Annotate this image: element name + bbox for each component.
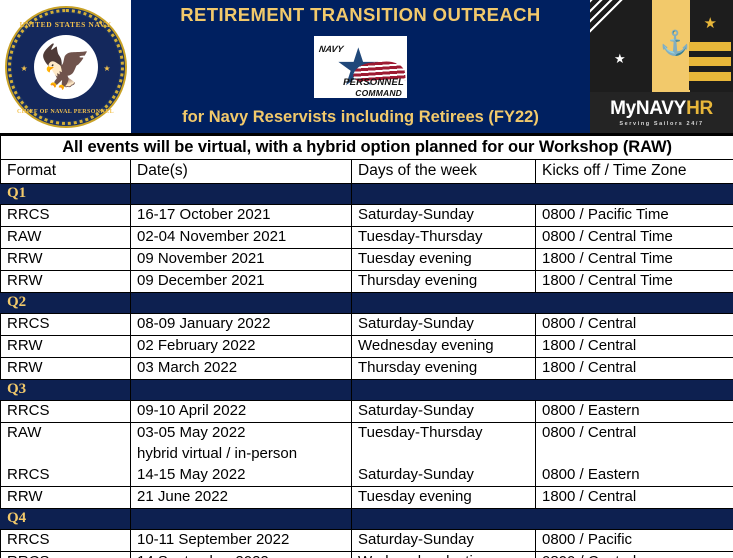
- kicks-off-cell: 0800 / Central: [536, 552, 733, 558]
- header-banner: UNITED STATES NAVY CHIEF OF NAVAL PERSON…: [0, 0, 733, 133]
- seal-bottom-text: CHIEF OF NAVAL PERSONNEL: [12, 109, 120, 115]
- table-row: RAW02-04 November 2021Tuesday-Thursday08…: [1, 227, 733, 249]
- quarter-fill-dates: [131, 293, 352, 314]
- quarter-fill-days: [352, 293, 536, 314]
- chief-of-naval-personnel-seal-icon: UNITED STATES NAVY CHIEF OF NAVAL PERSON…: [7, 8, 125, 126]
- quarter-fill-kicks: [536, 380, 733, 401]
- seal-center: 🦅: [34, 35, 98, 99]
- format-cell: RRCS: [1, 205, 131, 227]
- quarter-fill-dates: [131, 509, 352, 530]
- quarter-fill-kicks: [536, 184, 733, 205]
- page-subtitle: for Navy Reservists including Retirees (…: [182, 108, 539, 127]
- seal-top-text: UNITED STATES NAVY: [12, 20, 120, 29]
- dates-cell: 16-17 October 2021: [131, 205, 352, 227]
- eagle-icon: 🦅: [39, 46, 91, 88]
- column-header-0: Format: [1, 160, 131, 184]
- quarter-row-q2: Q2: [1, 293, 733, 314]
- quarter-row-q1: Q1: [1, 184, 733, 205]
- quarter-fill-days: [352, 184, 536, 205]
- chevron-stripes-icon: [590, 0, 652, 92]
- mynavy-hr-tagline: Serving Sailors 24/7: [619, 121, 703, 127]
- days-line: Saturday-Sunday: [358, 465, 535, 486]
- kicks-off-line: 0800 / Eastern: [542, 465, 733, 486]
- quarter-label: Q3: [1, 380, 131, 401]
- table-row: RRW09 December 2021Thursday evening1800 …: [1, 271, 733, 293]
- dates-cell: 10-11 September 2022: [131, 530, 352, 552]
- dates-cell: 09 December 2021: [131, 271, 352, 293]
- schedule-table-container: All events will be virtual, with a hybri…: [0, 133, 733, 558]
- kicks-off-cell: 0800 / Central 0800 / Eastern: [536, 423, 733, 487]
- kicks-off-line: 0800 / Central: [542, 423, 733, 444]
- quarter-label: Q4: [1, 509, 131, 530]
- quarter-fill-days: [352, 509, 536, 530]
- days-cell: Wednesday daytime: [352, 552, 536, 558]
- kicks-off-cell: 1800 / Central: [536, 336, 733, 358]
- column-header-1: Date(s): [131, 160, 352, 184]
- days-cell: Tuesday-Thursday Saturday-Sunday: [352, 423, 536, 487]
- format-line: RAW: [7, 423, 130, 444]
- quarter-fill-kicks: [536, 293, 733, 314]
- dates-cell: 02 February 2022: [131, 336, 352, 358]
- officer-stripes-icon: [689, 42, 731, 90]
- table-row-merged: RAW RRCS03-05 May 2022hybrid virtual / i…: [1, 423, 733, 487]
- kicks-off-cell: 1800 / Central: [536, 487, 733, 509]
- format-cell: RRW: [1, 487, 131, 509]
- days-cell: Wednesday evening: [352, 336, 536, 358]
- days-cell: Tuesday evening: [352, 249, 536, 271]
- navy-personnel-command-logo: NAVY PERSONNEL COMMAND: [314, 36, 407, 98]
- mynavy-hr-logo: MyNAVYHR Serving Sailors 24/7: [590, 92, 733, 133]
- dates-line: 03-05 May 2022: [137, 423, 351, 444]
- days-cell: Tuesday-Thursday: [352, 227, 536, 249]
- table-row: RRW02 February 2022Wednesday evening1800…: [1, 336, 733, 358]
- table-row: RRCS09-10 April 2022Saturday-Sunday0800 …: [1, 401, 733, 423]
- format-cell: RRW: [1, 249, 131, 271]
- kicks-off-cell: 0800 / Eastern: [536, 401, 733, 423]
- table-row: RRCS08-09 January 2022Saturday-Sunday080…: [1, 314, 733, 336]
- table-row: RRCS16-17 October 2021Saturday-Sunday080…: [1, 205, 733, 227]
- days-cell: Thursday evening: [352, 358, 536, 380]
- format-cell: RRCS: [1, 401, 131, 423]
- dates-cell: 14 September 2022: [131, 552, 352, 558]
- kicks-off-cell: 0800 / Central: [536, 314, 733, 336]
- dates-line: hybrid virtual / in-person: [137, 444, 351, 465]
- column-header-3: Kicks off / Time Zone: [536, 160, 733, 184]
- column-header-2: Days of the week: [352, 160, 536, 184]
- gold-star-icon: ★: [704, 16, 717, 31]
- table-row: RRCS14 September 2022Wednesday daytime08…: [1, 552, 733, 558]
- quarter-fill-dates: [131, 184, 352, 205]
- seal-star-left-icon: ★: [21, 65, 28, 73]
- quarter-label: Q1: [1, 184, 131, 205]
- table-header-row: FormatDate(s)Days of the weekKicks off /…: [1, 160, 733, 184]
- days-cell: Saturday-Sunday: [352, 314, 536, 336]
- table-row: RRW09 November 2021Tuesday evening1800 /…: [1, 249, 733, 271]
- dates-cell: 02-04 November 2021: [131, 227, 352, 249]
- kicks-off-cell: 0800 / Pacific Time: [536, 205, 733, 227]
- hr-text: HR: [686, 98, 713, 119]
- anchor-icon: ⚓: [660, 32, 690, 56]
- kicks-off-cell: 1800 / Central: [536, 358, 733, 380]
- rank-insignia-graphic: ★ ⚓ ★: [590, 0, 733, 92]
- kicks-off-cell: 0800 / Central Time: [536, 227, 733, 249]
- dates-cell: 03-05 May 2022hybrid virtual / in-person…: [131, 423, 352, 487]
- table-row: RRW21 June 2022Tuesday evening1800 / Cen…: [1, 487, 733, 509]
- npc-logo-line1: NAVY: [318, 44, 344, 54]
- format-cell: RRW: [1, 271, 131, 293]
- quarter-fill-dates: [131, 380, 352, 401]
- seal-star-right-icon: ★: [103, 65, 110, 73]
- format-cell: RAW RRCS: [1, 423, 131, 487]
- format-cell: RRCS: [1, 552, 131, 558]
- format-cell: RRCS: [1, 530, 131, 552]
- days-cell: Thursday evening: [352, 271, 536, 293]
- page-title: RETIREMENT TRANSITION OUTREACH: [180, 4, 540, 26]
- table-row: RRW03 March 2022Thursday evening1800 / C…: [1, 358, 733, 380]
- quarter-row-q4: Q4: [1, 509, 733, 530]
- dates-cell: 09-10 April 2022: [131, 401, 352, 423]
- navy-seal-container: UNITED STATES NAVY CHIEF OF NAVAL PERSON…: [0, 0, 131, 133]
- table-banner-text: All events will be virtual, with a hybri…: [1, 136, 733, 160]
- quarter-row-q3: Q3: [1, 380, 733, 401]
- format-cell: RRW: [1, 358, 131, 380]
- format-cell: RRW: [1, 336, 131, 358]
- title-column: RETIREMENT TRANSITION OUTREACH NAVY PERS…: [131, 0, 590, 133]
- mynavy-text: MyNAVY: [610, 98, 686, 119]
- days-cell: Saturday-Sunday: [352, 530, 536, 552]
- npc-logo-line3: COMMAND: [355, 88, 402, 98]
- format-cell: RRCS: [1, 314, 131, 336]
- quarter-fill-kicks: [536, 509, 733, 530]
- kicks-off-cell: 1800 / Central Time: [536, 271, 733, 293]
- quarter-fill-days: [352, 380, 536, 401]
- quarter-label: Q2: [1, 293, 131, 314]
- days-cell: Saturday-Sunday: [352, 401, 536, 423]
- days-line: Tuesday-Thursday: [358, 423, 535, 444]
- format-line: RRCS: [7, 465, 130, 486]
- right-logo-column: ★ ⚓ ★ MyNAVYHR Serving Sailors 24/7: [590, 0, 733, 133]
- dates-cell: 03 March 2022: [131, 358, 352, 380]
- seal-ring: UNITED STATES NAVY CHIEF OF NAVAL PERSON…: [12, 13, 120, 121]
- dates-cell: 08-09 January 2022: [131, 314, 352, 336]
- table-row: RRCS10-11 September 2022Saturday-Sunday0…: [1, 530, 733, 552]
- npc-logo-line2: PERSONNEL: [343, 77, 404, 88]
- table-banner-row: All events will be virtual, with a hybri…: [1, 136, 733, 160]
- kicks-off-cell: 1800 / Central Time: [536, 249, 733, 271]
- dates-cell: 09 November 2021: [131, 249, 352, 271]
- days-cell: Tuesday evening: [352, 487, 536, 509]
- dates-line: 14-15 May 2022: [137, 465, 351, 486]
- white-star-icon: ★: [614, 52, 626, 65]
- days-cell: Saturday-Sunday: [352, 205, 536, 227]
- outreach-schedule-table: All events will be virtual, with a hybri…: [0, 135, 733, 558]
- format-cell: RAW: [1, 227, 131, 249]
- flyer-page: UNITED STATES NAVY CHIEF OF NAVAL PERSON…: [0, 0, 733, 558]
- mynavy-hr-wordmark: MyNAVYHR: [610, 99, 713, 118]
- schedule-table-body: All events will be virtual, with a hybri…: [1, 136, 733, 558]
- dates-cell: 21 June 2022: [131, 487, 352, 509]
- kicks-off-cell: 0800 / Pacific: [536, 530, 733, 552]
